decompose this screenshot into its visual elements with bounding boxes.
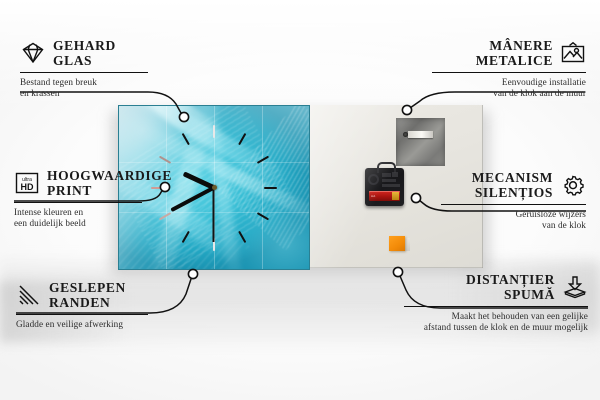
diamond-icon xyxy=(20,41,46,65)
callout-title: GESLEPEN RANDEN xyxy=(49,280,126,310)
callout-header: GESLEPEN RANDEN xyxy=(16,280,166,310)
svg-text:HD: HD xyxy=(21,182,34,192)
product-photo: AA xyxy=(118,105,483,268)
callout-description: Bestand tegen breuk en krassen xyxy=(20,77,155,100)
callout-rule xyxy=(16,314,148,315)
battery: AA xyxy=(369,191,400,201)
callout-title: DISTANȚIER SPUMĂ xyxy=(466,272,555,302)
mechanism-detail xyxy=(368,172,401,189)
callout-hoogwaardige-print: ultra HD HOOGWAARDIGE PRINT Intense kleu… xyxy=(14,168,164,230)
battery-label: AA xyxy=(371,194,375,198)
callout-description: Eenvoudige installatie van de klok aan d… xyxy=(432,77,586,100)
diagonal-lines-icon xyxy=(16,283,42,307)
callout-rule xyxy=(404,306,588,307)
callout-manere-metalice: MÂNERE METALICE Eenvoudige installatie v… xyxy=(432,38,586,100)
callout-geslepen-randen: GESLEPEN RANDEN Gladde en veilige afwerk… xyxy=(16,280,166,330)
callout-header: ultra HD HOOGWAARDIGE PRINT xyxy=(14,168,164,198)
callout-title: GEHARD GLAS xyxy=(53,38,116,68)
battery-positive-terminal xyxy=(392,192,399,200)
callout-description: Intense kleuren en een duidelijk beeld xyxy=(14,207,164,230)
callout-title: MÂNERE METALICE xyxy=(476,38,553,68)
clock-mechanism: AA xyxy=(365,168,404,206)
callout-header: MÂNERE METALICE xyxy=(432,38,586,68)
spacer-side-face xyxy=(405,238,410,251)
tick-4 xyxy=(257,212,269,220)
foam-spacer xyxy=(389,236,405,251)
callout-rule xyxy=(441,204,586,205)
callout-title: MECANISM SILENȚIOS xyxy=(472,170,553,200)
metal-hanger-plate xyxy=(396,118,445,166)
callout-description: Gladde en veilige afwerking xyxy=(16,319,166,330)
callout-distantier-spuma: DISTANȚIER SPUMĂ Maakt het behouden van … xyxy=(404,272,588,334)
tick-3 xyxy=(264,187,277,189)
callout-header: GEHARD GLAS xyxy=(20,38,155,68)
tick-2 xyxy=(257,155,269,163)
hanger-screw-hole xyxy=(403,132,408,137)
callout-title: HOOGWAARDIGE PRINT xyxy=(47,168,172,198)
tick-12 xyxy=(213,125,215,138)
tick-11 xyxy=(182,132,190,144)
clock-center-pin xyxy=(212,185,217,190)
callout-description: Maakt het behouden van een gelijke afsta… xyxy=(404,311,588,334)
hanger-keyhole-slot xyxy=(408,131,433,138)
ultra-hd-icon: ultra HD xyxy=(14,171,40,195)
picture-frame-icon xyxy=(560,41,586,65)
second-hand xyxy=(213,188,215,242)
callout-description: Geruisloze wijzers van de klok xyxy=(441,209,586,232)
tick-5 xyxy=(238,230,246,242)
callout-header: MECANISM SILENȚIOS xyxy=(441,170,586,200)
tick-7 xyxy=(182,230,190,242)
callout-gehard-glas: GEHARD GLAS Bestand tegen breuk en krass… xyxy=(20,38,155,100)
callout-header: DISTANȚIER SPUMĂ xyxy=(404,272,588,302)
callout-rule xyxy=(432,72,586,73)
spacer-arrow-icon xyxy=(562,275,588,299)
infographic-canvas: AA xyxy=(0,0,600,400)
tick-1 xyxy=(238,132,246,144)
gear-icon xyxy=(560,173,586,197)
tick-10 xyxy=(159,155,171,163)
mechanism-hanging-loop xyxy=(377,162,396,173)
callout-rule xyxy=(14,202,142,203)
callout-rule xyxy=(20,72,148,73)
minute-hand xyxy=(171,186,215,212)
callout-mecanism-silentios: MECANISM SILENȚIOS Geruisloze wijzers va… xyxy=(441,170,586,232)
